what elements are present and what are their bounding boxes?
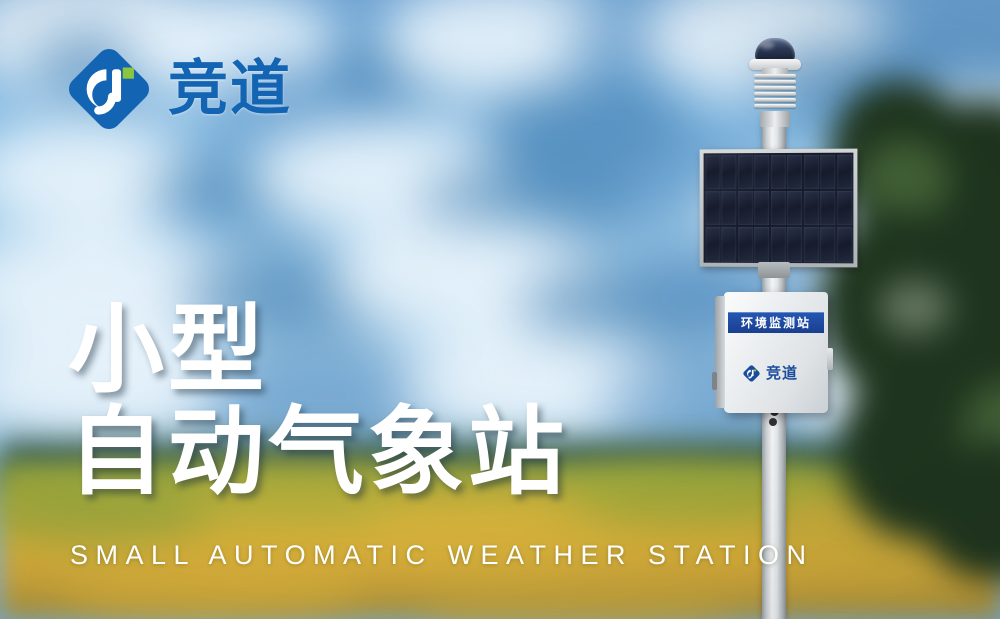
page-subtitle: SMALL AUTOMATIC WEATHER STATION — [70, 540, 814, 571]
headline-line-2: 自动气象站 — [68, 402, 568, 504]
headline-line-1: 小型 — [68, 294, 268, 406]
page-title: 小型 自动气象站 — [68, 300, 568, 504]
brand-logo[interactable]: 竞道 — [66, 46, 292, 132]
promo-banner: 环境监测站 竞道 — [0, 0, 1000, 619]
brand-name: 竞道 — [168, 59, 292, 119]
jingdao-diamond-logo-icon — [66, 46, 152, 132]
